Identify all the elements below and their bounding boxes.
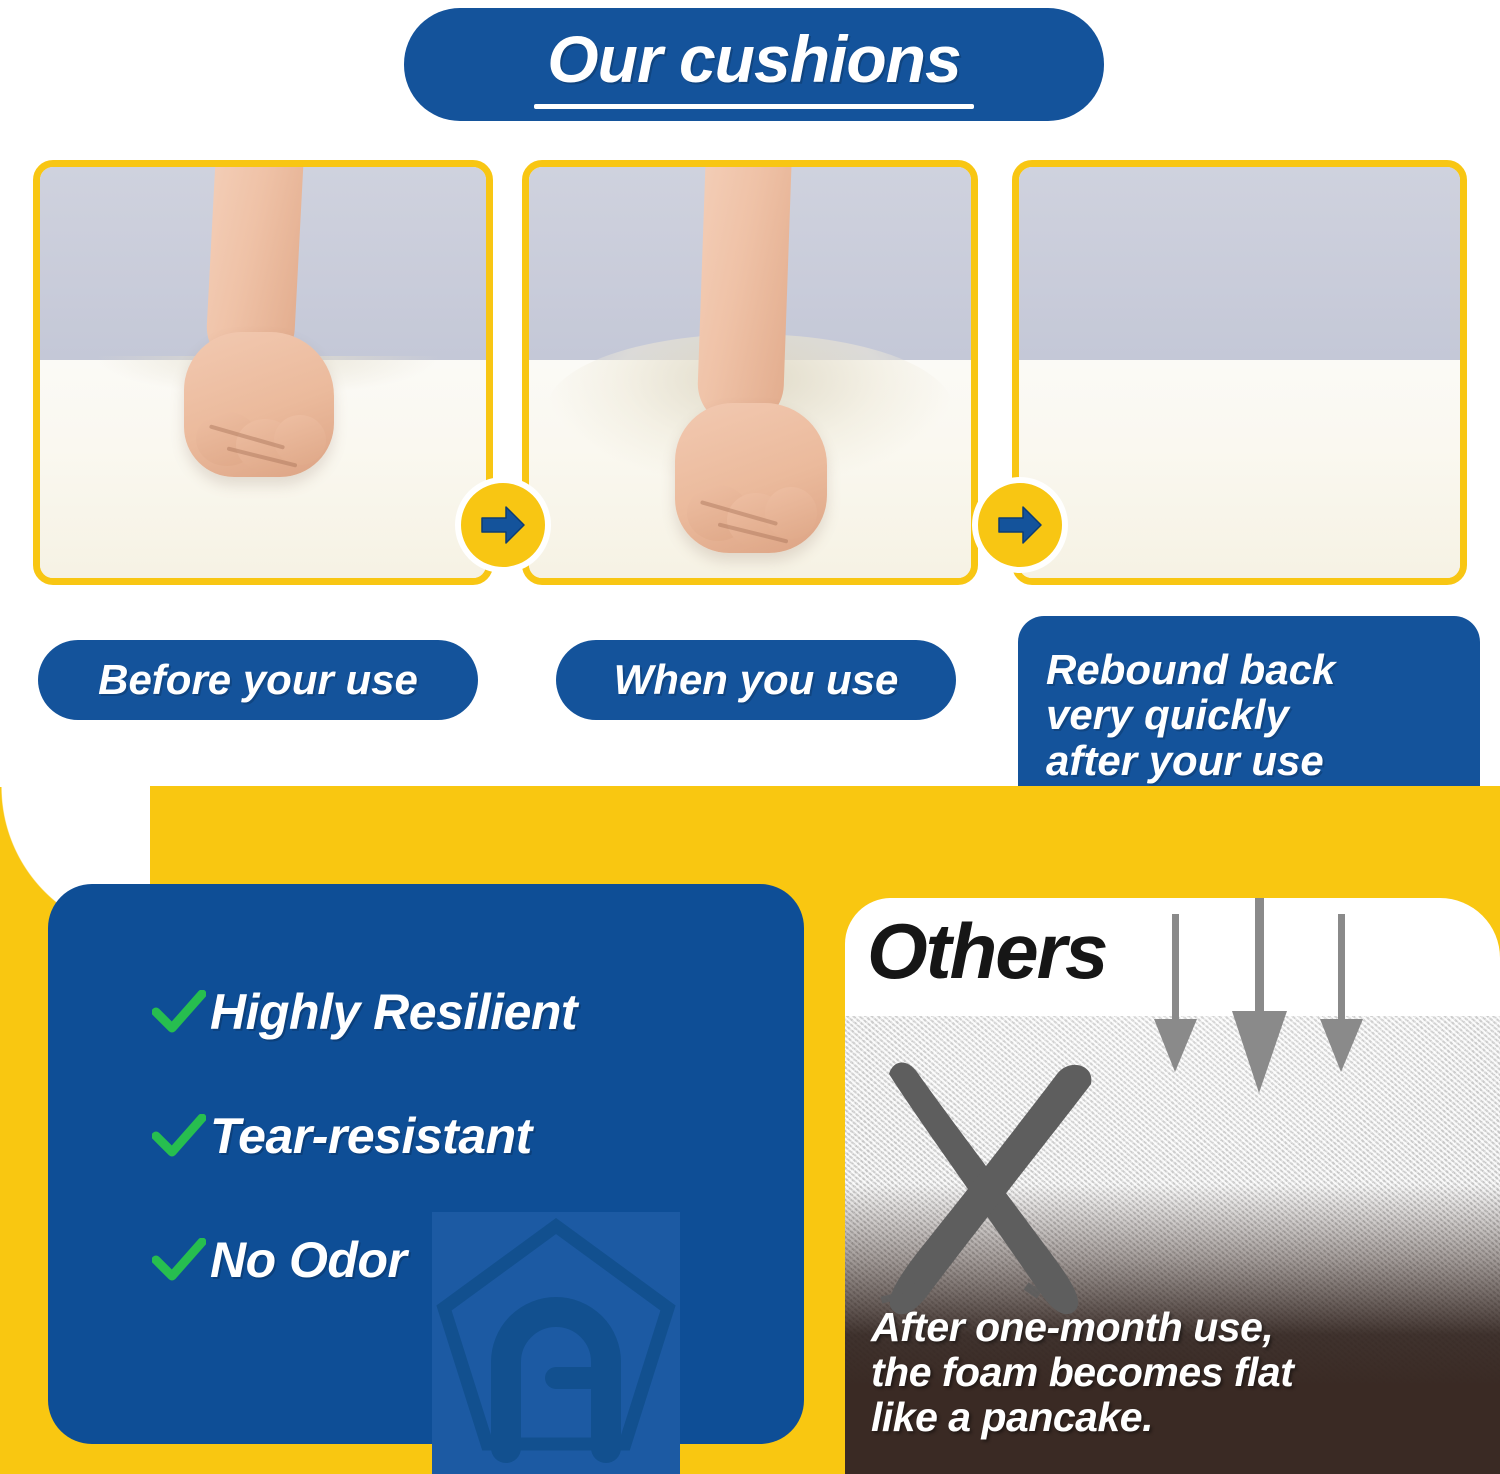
feature-label: No Odor bbox=[210, 1231, 406, 1289]
feature-list: Highly Resilient Tear-resistant No Odor bbox=[152, 980, 577, 1352]
others-caption-line: the foam becomes flat bbox=[871, 1350, 1293, 1395]
photo-background-wall bbox=[1019, 167, 1460, 360]
step-caption-line: after your use bbox=[1046, 738, 1324, 783]
photo-step-row bbox=[0, 160, 1500, 585]
others-caption-line: After one-month use, bbox=[871, 1305, 1293, 1350]
check-icon bbox=[152, 990, 210, 1034]
forearm-shape bbox=[696, 160, 791, 428]
step-caption-before: Before your use bbox=[38, 640, 478, 720]
feature-label: Highly Resilient bbox=[210, 983, 577, 1041]
photo-foam-slab bbox=[1019, 360, 1460, 578]
infographic-canvas: Our cushions bbox=[0, 0, 1500, 1474]
photo-card-before bbox=[33, 160, 493, 585]
title-underline bbox=[534, 104, 974, 109]
page-title-pill: Our cushions bbox=[404, 8, 1104, 121]
brush-x-mark-icon bbox=[855, 1058, 1155, 1338]
down-arrows-icon bbox=[1140, 898, 1410, 1106]
page-title: Our cushions bbox=[547, 26, 960, 92]
feature-item: No Odor bbox=[152, 1228, 577, 1292]
photo-card-when bbox=[522, 160, 978, 585]
feature-item: Tear-resistant bbox=[152, 1104, 577, 1168]
knuckle-shape bbox=[765, 487, 817, 539]
knuckle-shape bbox=[274, 415, 326, 465]
others-caption: After one-month use, the foam becomes fl… bbox=[871, 1305, 1293, 1440]
feature-label: Tear-resistant bbox=[210, 1107, 532, 1165]
features-panel: Highly Resilient Tear-resistant No Odor bbox=[48, 884, 804, 1444]
others-comparison-panel: Others bbox=[845, 898, 1500, 1474]
step-caption-when: When you use bbox=[556, 640, 956, 720]
check-icon bbox=[152, 1114, 210, 1158]
others-caption-line: like a pancake. bbox=[871, 1395, 1293, 1440]
step-caption-after: Rebound back very quickly after your use bbox=[1018, 616, 1480, 814]
others-title: Others bbox=[867, 912, 1106, 990]
arrow-right-icon bbox=[455, 477, 551, 573]
arrow-right-icon bbox=[972, 477, 1068, 573]
step-caption-line: very quickly bbox=[1046, 692, 1289, 737]
feature-item: Highly Resilient bbox=[152, 980, 577, 1044]
photo-card-after bbox=[1012, 160, 1467, 585]
step-caption-line: Rebound back bbox=[1046, 647, 1335, 692]
check-icon bbox=[152, 1238, 210, 1282]
